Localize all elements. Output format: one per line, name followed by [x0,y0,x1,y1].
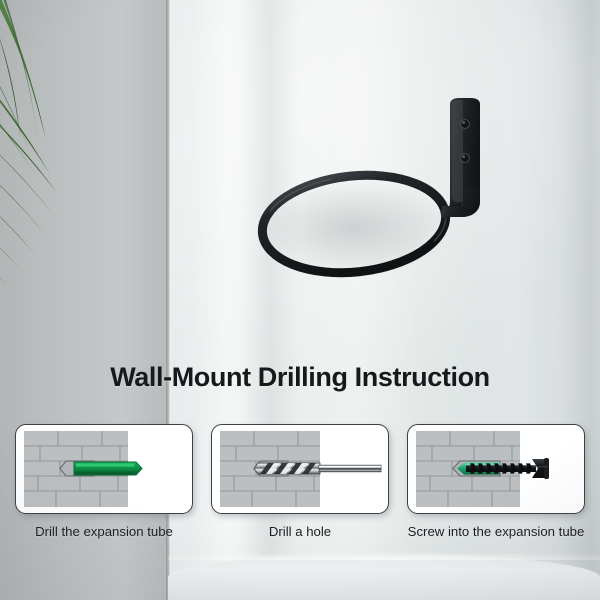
expansion-tube [74,462,142,475]
instruction-steps: Drill the expansion tube [0,424,600,584]
step-1-caption: Drill the expansion tube [9,524,199,541]
page-title: Wall-Mount Drilling Instruction [0,362,600,393]
step-3-caption: Screw into the expansion tube [401,524,591,541]
frond-group [0,0,58,318]
palm-plant-decor [0,0,152,318]
step-2: Drill a hole [210,424,390,584]
masonry-drill-bit [254,463,381,474]
step-2-caption: Drill a hole [215,524,385,541]
step-3-card [407,424,585,514]
step-1-card [15,424,193,514]
ring-towel-holder-product [246,96,496,296]
step-1: Drill the expansion tube [14,424,194,584]
screenshot-stage: Wall-Mount Drilling Instruction [0,0,600,600]
step-2-card [211,424,389,514]
step-3: Screw into the expansion tube [406,424,586,584]
